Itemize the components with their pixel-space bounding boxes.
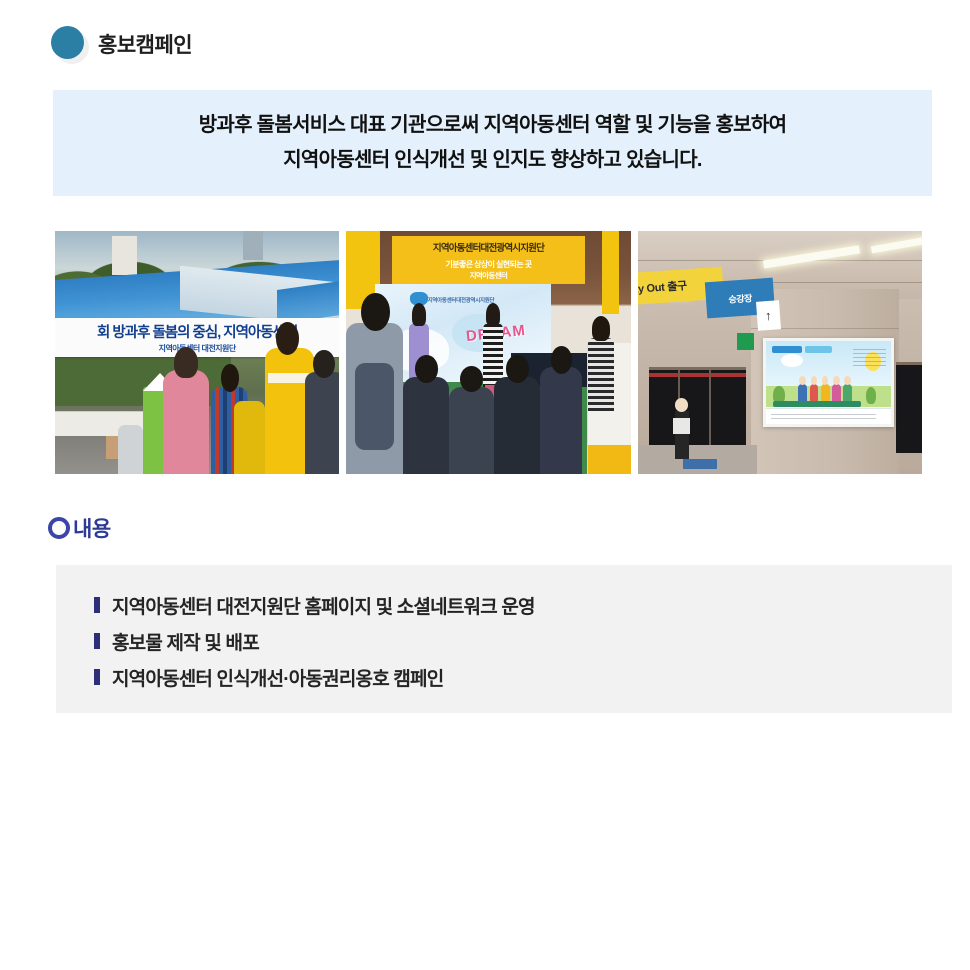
photo2-yellow-column-right xyxy=(602,231,619,314)
content-heading-label: 내용 xyxy=(73,513,111,543)
photo3-poster-child-1 xyxy=(798,384,807,402)
photo3-exit-sign-label: ay Out 출구 xyxy=(638,277,688,297)
photo3-poster-child-4 xyxy=(832,384,841,402)
photo2-seated-child-3 xyxy=(494,377,539,474)
photo1-visitor-dark xyxy=(305,372,339,474)
photo3-door-gap-2 xyxy=(709,370,711,453)
photo2-banner: 지역아동센터대전광역시지원단 기분좋은 상상이 실현되는 곳 지역아동센터 xyxy=(392,236,585,285)
up-arrow-icon: ↑ xyxy=(756,301,781,332)
list-item-label: 홍보물 제작 및 배포 xyxy=(112,628,259,655)
photo1-girl-pink xyxy=(163,370,208,474)
photo1-volunteer-back xyxy=(234,401,265,474)
intro-line-2: 지역아동센터 인식개선 및 인지도 향상하고 있습니다. xyxy=(283,143,702,178)
photo1-building xyxy=(112,236,138,275)
photo3-poster-child-3 xyxy=(821,384,830,402)
photo1-building-far xyxy=(243,231,263,260)
photo3-poster-green-bar xyxy=(773,401,861,407)
intro-line-1: 방과후 돌봄서비스 대표 기관으로써 지역아동센터 역할 및 기능을 홍보하여 xyxy=(199,108,787,143)
photo1-banner-sub: 지역아동센터 대전지원단 xyxy=(159,343,236,354)
content-section-heading: 내용 xyxy=(48,513,111,543)
photo-subway-advertisement: ay Out 출구 승강장 ↑ xyxy=(638,231,922,474)
bullet-marker-icon xyxy=(94,669,100,685)
section-header: 홍보캠페인 xyxy=(48,22,192,66)
photo3-poster-footer xyxy=(766,408,891,423)
photo2-seated-child-4 xyxy=(540,367,583,474)
filled-circle-icon xyxy=(48,23,90,65)
bullet-marker-icon xyxy=(94,597,100,613)
ring-circle-icon xyxy=(48,517,70,539)
list-item: 지역아동센터 인식개선·아동권리옹호 캠페인 xyxy=(56,659,952,695)
list-item: 홍보물 제작 및 배포 xyxy=(56,623,952,659)
photo3-floor-marking xyxy=(683,459,717,469)
photo3-poster-child-5 xyxy=(843,384,852,402)
photo3-door-stripe xyxy=(649,373,746,376)
photo2-seated-child-2 xyxy=(449,387,494,474)
photo3-lightbox-poster xyxy=(763,338,894,427)
photo3-emergency-exit-sign xyxy=(737,333,754,350)
photo2-staff-member xyxy=(588,338,614,411)
content-list: 지역아동센터 대전지원단 홈페이지 및 소셜네트워크 운영 홍보물 제작 및 배… xyxy=(56,587,952,695)
photo3-poster-body-text xyxy=(853,348,886,366)
photo2-banner-line1: 기분좋은 상상이 실현되는 곳 xyxy=(445,259,531,270)
content-panel: 지역아동센터 대전지원단 홈페이지 및 소셜네트워크 운영 홍보물 제작 및 배… xyxy=(56,565,952,713)
photo1-child-small xyxy=(118,425,144,474)
photo2-banner-title: 지역아동센터대전광역시지원단 xyxy=(433,240,544,254)
photo2-desk-accent xyxy=(588,445,631,474)
photo-gallery: 회 방과후 돌봄의 중심, 지역아동센터 지역아동센터 대전지원단 지역아동센터… xyxy=(55,231,922,474)
photo1-pencil-prop xyxy=(143,387,163,474)
photo2-performer-right xyxy=(483,323,503,386)
photo-outdoor-booth: 회 방과후 돌봄의 중심, 지역아동센터 지역아동센터 대전지원단 xyxy=(55,231,339,474)
photo3-direction-sign-label: 승강장 xyxy=(728,291,752,306)
photo3-poster-logo-band xyxy=(772,346,802,353)
page-title: 홍보캠페인 xyxy=(98,29,192,59)
photo1-banner-main: 회 방과후 돌봄의 중심, 지역아동센터 xyxy=(97,321,297,342)
photo2-banner-line2: 지역아동센터 xyxy=(470,270,508,281)
photo3-poster-title-band xyxy=(805,346,833,353)
list-item: 지역아동센터 대전지원단 홈페이지 및 소셜네트워크 운영 xyxy=(56,587,952,623)
photo2-mural-logo-text: 지역아동센터대전광역시지원단 xyxy=(428,296,495,304)
bullet-marker-icon xyxy=(94,633,100,649)
list-item-label: 지역아동센터 대전지원단 홈페이지 및 소셜네트워크 운영 xyxy=(112,592,535,619)
photo3-platform-screen-doors xyxy=(649,367,746,453)
list-item-label: 지역아동센터 인식개선·아동권리옹호 캠페인 xyxy=(112,664,443,691)
photo3-poster-tree-right xyxy=(866,387,876,404)
intro-description-box: 방과후 돌봄서비스 대표 기관으로써 지역아동센터 역할 및 기능을 홍보하여 … xyxy=(53,90,932,196)
circle-fill xyxy=(51,26,84,59)
photo3-screen-doors-right xyxy=(896,362,922,452)
photo3-commuter xyxy=(675,411,689,460)
photo2-visitor-standing xyxy=(346,323,403,474)
photo-indoor-exhibition: 지역아동센터대전광역시지원단 기분좋은 상상이 실현되는 곳 지역아동센터 지역… xyxy=(346,231,630,474)
photo2-seated-child-1 xyxy=(403,377,448,474)
photo3-poster-child-2 xyxy=(810,384,819,402)
